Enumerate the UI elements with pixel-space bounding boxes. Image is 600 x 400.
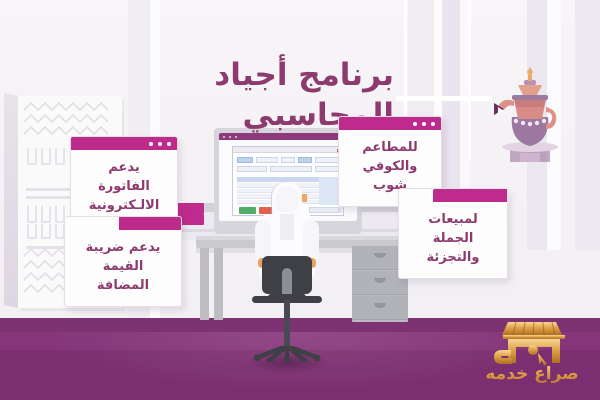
feature-line: يدعم ضريبة xyxy=(73,239,173,258)
save-button[interactable] xyxy=(239,207,256,214)
feature-card-text: لمبيعات الجملة والتجزئة xyxy=(399,202,507,278)
feature-line: لمبيعات xyxy=(407,211,499,230)
drawer[interactable] xyxy=(352,296,408,320)
total-label xyxy=(309,207,339,213)
brand-name: صراع خدمه xyxy=(478,364,586,384)
poster-canvas: برنامج أجياد المحاسبي يدعم الفاتورة الال… xyxy=(0,0,600,400)
feature-line: والكوفي xyxy=(347,158,433,177)
form-field[interactable] xyxy=(298,157,312,163)
form-field[interactable] xyxy=(256,157,278,163)
head xyxy=(276,186,298,212)
storefront-icon xyxy=(478,318,586,368)
feature-line: القيمة xyxy=(73,258,173,277)
card-header-bar xyxy=(433,189,507,202)
app-titlebar xyxy=(233,147,343,153)
form-field[interactable] xyxy=(237,157,253,163)
form-field[interactable] xyxy=(237,166,267,172)
feature-line: الالـكترونية xyxy=(79,197,169,216)
feature-line: يدعم xyxy=(79,159,169,178)
feature-card-text: يدعم الفاتورة الالـكترونية xyxy=(71,150,177,226)
form-field[interactable] xyxy=(270,166,312,172)
thobe-collar xyxy=(280,214,294,240)
form-field[interactable] xyxy=(281,157,295,163)
feature-line: الفاتورة xyxy=(79,178,169,197)
drawer-handle-icon xyxy=(374,303,386,308)
brand-logo[interactable]: صراع خدمه xyxy=(478,318,586,392)
feature-card-vat-support[interactable]: يدعم ضريبة القيمة المضافة xyxy=(64,216,182,307)
feature-card-wholesale-retail[interactable]: لمبيعات الجملة والتجزئة xyxy=(398,188,508,279)
wall-shelf xyxy=(396,96,492,101)
desk-leg xyxy=(214,248,223,320)
desk-leg xyxy=(200,248,209,320)
card-window-header xyxy=(71,137,177,150)
drawer-handle-icon xyxy=(374,253,386,258)
feature-line: المضافة xyxy=(73,277,173,296)
feature-line: الجملة xyxy=(407,230,499,249)
card-window-header xyxy=(339,117,441,130)
chair-gas-cylinder xyxy=(284,300,290,350)
panel-edge xyxy=(4,93,18,308)
feature-line: للمطاعم xyxy=(347,139,433,158)
feature-card-text: يدعم ضريبة القيمة المضافة xyxy=(65,230,181,306)
chair-base xyxy=(252,346,322,360)
window-blind xyxy=(575,0,600,250)
card-header-bar xyxy=(119,217,181,230)
feature-line: والتجزئة xyxy=(407,249,499,268)
arabic-coffee-pot-icon xyxy=(492,57,566,162)
feature-card-electronic-invoice[interactable]: يدعم الفاتورة الالـكترونية xyxy=(70,136,178,227)
drawer-handle-icon xyxy=(374,278,386,283)
window-frame xyxy=(468,0,471,160)
